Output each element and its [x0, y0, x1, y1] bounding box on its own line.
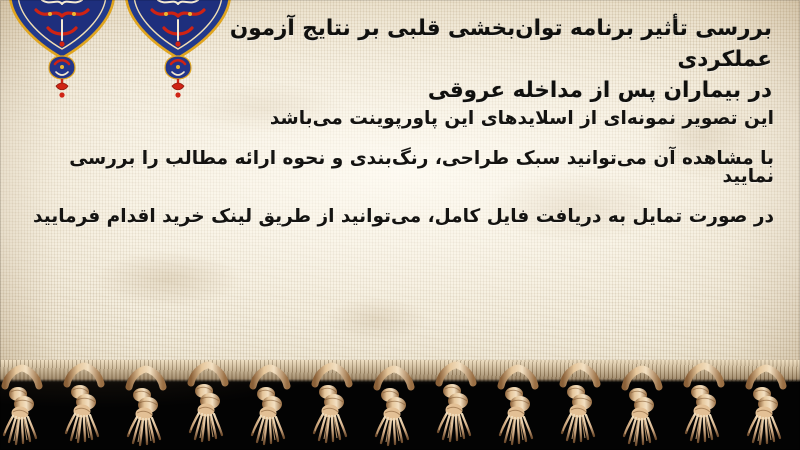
tassel [376, 369, 411, 445]
slide-body: این تصویر نمونه‌ای از اسلایدهای این پاور… [22, 110, 774, 247]
body-line-1: این تصویر نمونه‌ای از اسلایدهای این پاور… [22, 110, 774, 129]
tassel [748, 368, 783, 444]
tassel [4, 368, 39, 444]
presentation-slide: بررسی تأثیر برنامه توان‌بخشی قلبی بر نتا… [0, 0, 800, 450]
title-line-2: در بیماران پس از مداخله عروقی [172, 76, 772, 107]
body-line-3: در صورت تمایل به دریافت فایل کامل، می‌تو… [22, 208, 774, 227]
tassel [438, 365, 473, 441]
tassel [562, 366, 597, 442]
fringe-tassel-row [4, 365, 783, 445]
carpet-fringe [0, 360, 800, 450]
body-line-2: با مشاهده آن می‌توانید سبک طراحی، رنگ‌بن… [22, 150, 774, 187]
tassel [686, 366, 721, 442]
tassel [624, 369, 659, 445]
slide-title: بررسی تأثیر برنامه توان‌بخشی قلبی بر نتا… [172, 14, 772, 107]
tassel [190, 365, 225, 441]
title-line-1: بررسی تأثیر برنامه توان‌بخشی قلبی بر نتا… [172, 14, 772, 76]
tassel [500, 368, 535, 444]
tassel [66, 366, 101, 442]
tassel [314, 366, 349, 442]
tassel [128, 369, 163, 445]
slide-text-layer: بررسی تأثیر برنامه توان‌بخشی قلبی بر نتا… [0, 0, 800, 360]
tassel [252, 368, 287, 444]
